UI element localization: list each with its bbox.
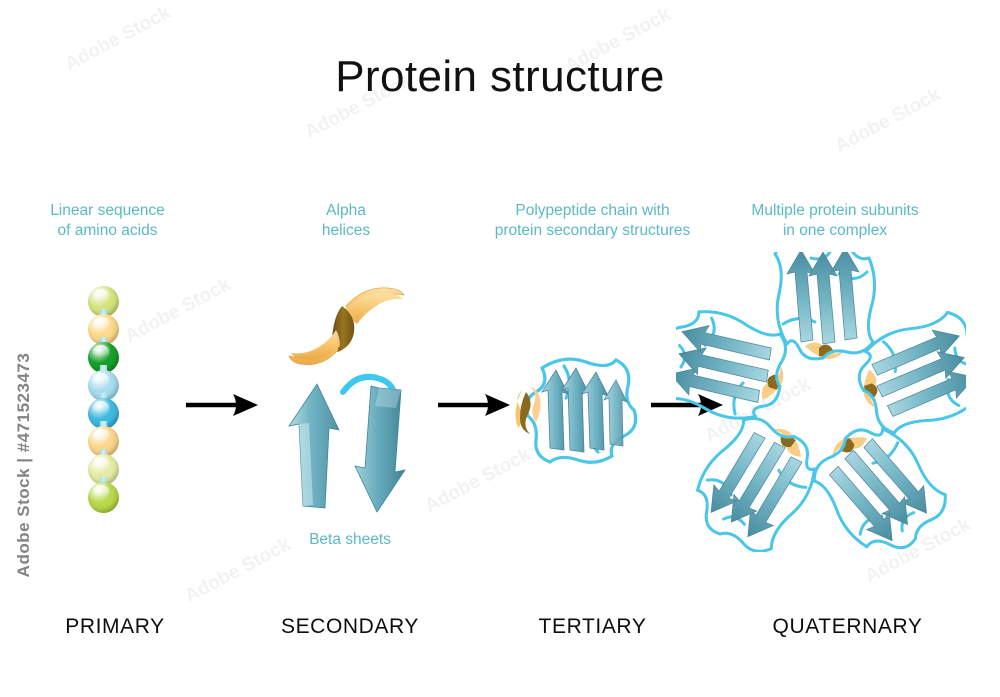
bead-highlight	[93, 317, 109, 329]
caption-secondary-line1: Alpha	[285, 201, 407, 221]
watermark-tile: Adobe Stock	[182, 534, 295, 608]
caption-quaternary-line1: Multiple protein subunits	[715, 201, 955, 221]
bead-highlight	[93, 289, 109, 301]
caption-secondary-line2: helices	[285, 221, 407, 241]
bead-highlight	[93, 485, 109, 497]
arrow-secondary-to-tertiary	[437, 392, 511, 418]
stage-label-quaternary: QUATERNARY	[740, 615, 955, 639]
bead-highlight	[93, 429, 109, 441]
caption-primary-line1: Linear sequence	[10, 201, 205, 221]
bead-highlight	[93, 457, 109, 469]
caption-tertiary-line1: Polypeptide chain with	[455, 201, 730, 221]
caption-primary: Linear sequence of amino acids	[10, 201, 205, 241]
bead-highlight	[93, 401, 109, 413]
caption-quaternary-line2: in one complex	[715, 221, 955, 241]
caption-primary-line2: of amino acids	[10, 221, 205, 241]
bead-highlight	[93, 373, 109, 385]
amino-acid-bead-chain	[88, 286, 130, 518]
watermark-tile: Adobe Stock	[122, 274, 235, 348]
stage-label-primary: PRIMARY	[25, 615, 205, 639]
watermark-credit: Adobe Stock | #471523473	[14, 345, 34, 585]
amino-acid-bead	[88, 482, 119, 513]
caption-tertiary-line2: protein secondary structures	[455, 221, 730, 241]
beta-sheet-icon	[283, 368, 423, 518]
stage-label-tertiary: TERTIARY	[495, 615, 690, 639]
subunit-ring	[676, 252, 966, 552]
caption-quaternary: Multiple protein subunits in one complex	[715, 201, 955, 241]
stage-label-secondary: SECONDARY	[250, 615, 450, 639]
caption-secondary: Alpha helices	[285, 201, 407, 241]
bead-highlight	[93, 345, 109, 357]
caption-tertiary: Polypeptide chain with protein secondary…	[455, 201, 730, 241]
caption-beta-sheets: Beta sheets	[280, 530, 420, 550]
arrow-primary-to-secondary	[185, 392, 259, 418]
quaternary-structure-icon	[676, 252, 966, 552]
page-title: Protein structure	[0, 52, 1000, 102]
diagram-canvas: Adobe Stock Adobe Stock Adobe Stock Adob…	[0, 0, 1000, 697]
alpha-helix-icon	[288, 276, 408, 368]
tertiary-structure-icon	[512, 352, 642, 470]
